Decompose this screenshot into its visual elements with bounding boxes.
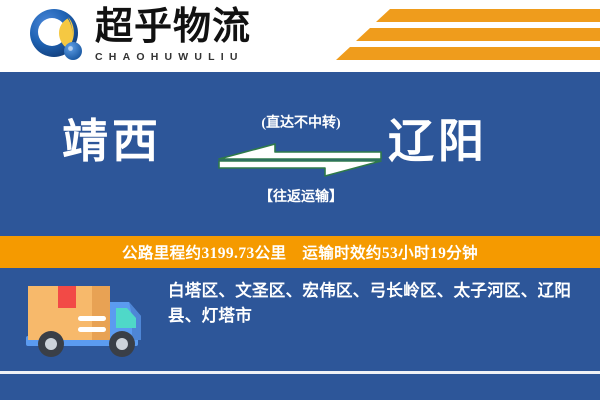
- route-center-group: (直达不中转) 【往返运输】: [215, 106, 387, 216]
- brand-block: 超乎物流 CHAOHUWULIU: [95, 5, 280, 64]
- header-stripe: [390, 9, 600, 22]
- coverage-area: 白塔区、文圣区、宏伟区、弓长岭区、太子河区、辽阳县、灯塔市: [0, 268, 600, 400]
- destination-city-label: 辽阳: [388, 114, 488, 170]
- coverage-districts-text: 白塔区、文圣区、宏伟区、弓长岭区、太子河区、辽阳县、灯塔市: [168, 278, 584, 328]
- bottom-divider: [0, 371, 600, 374]
- route-info-bar: 公路里程约3199.73公里 运输时效约53小时19分钟: [0, 236, 600, 268]
- banner-header: 超乎物流 CHAOHUWULIU: [0, 0, 600, 72]
- header-stripe: [350, 47, 600, 60]
- route-info-text: 公路里程约3199.73公里 运输时效约53小时19分钟: [122, 241, 478, 263]
- delivery-truck-icon: [24, 278, 152, 364]
- logistics-route-banner: 超乎物流 CHAOHUWULIU 靖西 (直达不中转) 【往返运输】 辽: [0, 0, 600, 400]
- route-note-direct: (直达不中转): [215, 112, 387, 132]
- header-stripes-decoration: [340, 9, 600, 65]
- route-area: 靖西 (直达不中转) 【往返运输】 辽阳: [0, 72, 600, 236]
- double-headed-arrow-icon: [217, 142, 383, 178]
- route-note-roundtrip: 【往返运输】: [215, 186, 387, 206]
- origin-city-label: 靖西: [62, 114, 162, 170]
- circle-crescent-logo-icon: [28, 8, 86, 66]
- brand-pinyin: CHAOHUWULIU: [95, 50, 280, 64]
- header-stripe: [370, 28, 600, 41]
- brand-name: 超乎物流: [95, 5, 280, 49]
